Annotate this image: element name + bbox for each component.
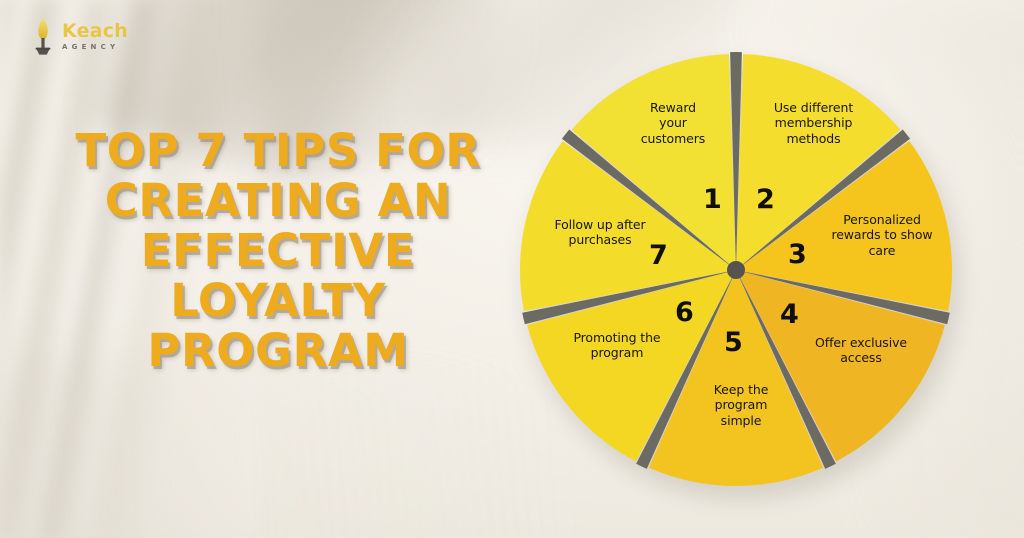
infographic-canvas: Keach AGENCY TOP 7 TIPS FOR CREATING AN … <box>0 0 1024 538</box>
headline-line-1: TOP 7 TIPS FOR <box>58 126 498 176</box>
slice-label-2: Use different membership methods <box>746 100 881 146</box>
slice-label-4: Offer exclusive access <box>797 335 925 366</box>
slice-number-3: 3 <box>788 241 807 268</box>
slice-label-5: Keep the program simple <box>686 382 796 428</box>
background-bottom-haze <box>0 358 560 538</box>
slice-number-7: 7 <box>649 242 668 269</box>
brand-logo-text: Keach AGENCY <box>62 22 128 51</box>
brand-name: Keach <box>62 22 128 41</box>
slice-label-1: Reward your customers <box>608 100 738 146</box>
slice-number-5: 5 <box>724 329 743 356</box>
headline-line-2: CREATING AN <box>58 176 498 226</box>
slice-number-4: 4 <box>780 301 799 328</box>
headline-line-3: EFFECTIVE <box>58 226 498 276</box>
headline-line-5: PROGRAM <box>58 326 498 376</box>
loyalty-tips-pie-chart: Reward your customers Use different memb… <box>518 52 954 488</box>
slice-number-6: 6 <box>675 299 694 326</box>
page-title: TOP 7 TIPS FOR CREATING AN EFFECTIVE LOY… <box>58 126 498 376</box>
slice-label-6: Promoting the program <box>547 330 687 361</box>
headline-line-4: LOYALTY <box>58 276 498 326</box>
torch-icon <box>30 16 56 56</box>
brand-logo[interactable]: Keach AGENCY <box>30 16 128 56</box>
slice-number-1: 1 <box>703 186 722 213</box>
pie-center-hub <box>727 261 745 279</box>
slice-number-2: 2 <box>756 186 775 213</box>
brand-tagline: AGENCY <box>62 44 128 51</box>
slice-label-3: Personalized rewards to show care <box>816 212 948 258</box>
